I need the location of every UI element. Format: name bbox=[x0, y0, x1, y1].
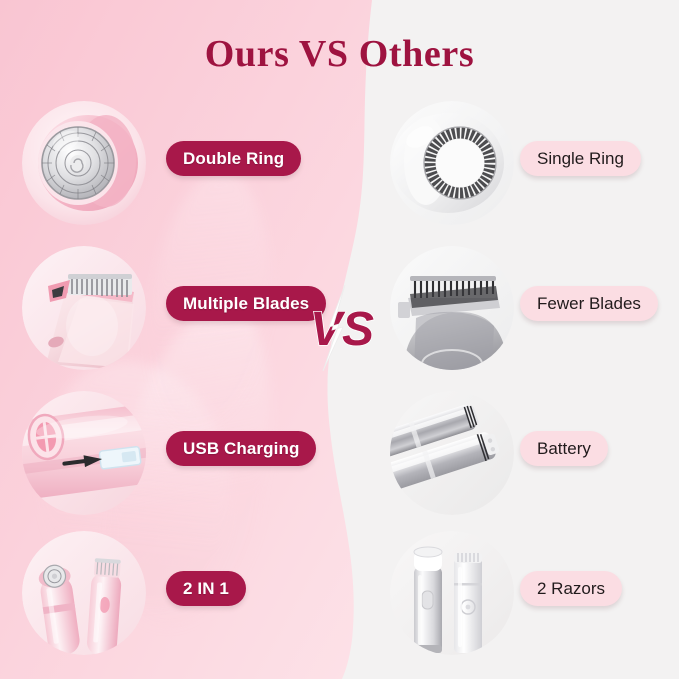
ours-feature-label: 2 IN 1 bbox=[166, 571, 246, 606]
theirs-feature-label: Battery bbox=[520, 431, 608, 466]
replaceable-batteries-photo bbox=[390, 391, 514, 515]
comparison-row: 2 IN 1 bbox=[0, 525, 679, 660]
theirs-feature-label: Fewer Blades bbox=[520, 286, 658, 321]
ours-feature-label: USB Charging bbox=[166, 431, 316, 466]
multiple-blades-trimmer-photo bbox=[22, 246, 146, 370]
ours-cell: Double Ring bbox=[0, 95, 330, 230]
theirs-cell: Fewer Blades bbox=[352, 240, 679, 375]
usb-charging-device-photo bbox=[22, 391, 146, 515]
theirs-feature-label: Single Ring bbox=[520, 141, 641, 176]
two-razors-photo bbox=[390, 531, 514, 655]
ours-feature-label: Double Ring bbox=[166, 141, 301, 176]
ours-cell: Multiple Blades bbox=[0, 240, 330, 375]
single-ring-shaver-head-photo bbox=[390, 101, 514, 225]
ours-cell: USB Charging bbox=[0, 385, 330, 520]
ours-cell: 2 IN 1 bbox=[0, 525, 330, 660]
theirs-feature-label: 2 Razors bbox=[520, 571, 622, 606]
page-title: Ours VS Others bbox=[0, 32, 679, 76]
comparison-row: Double Ring bbox=[0, 95, 679, 230]
fewer-blades-trimmer-photo bbox=[390, 246, 514, 370]
vs-badge: VS bbox=[299, 283, 385, 373]
comparison-row: USB Charging bbox=[0, 385, 679, 520]
theirs-cell: Single Ring bbox=[352, 95, 679, 230]
theirs-cell: 2 Razors bbox=[352, 525, 679, 660]
comparison-poster: Ours VS Others bbox=[0, 0, 679, 679]
double-ring-shaver-head-photo bbox=[22, 101, 146, 225]
two-in-one-devices-photo bbox=[22, 531, 146, 655]
theirs-cell: Battery bbox=[352, 385, 679, 520]
